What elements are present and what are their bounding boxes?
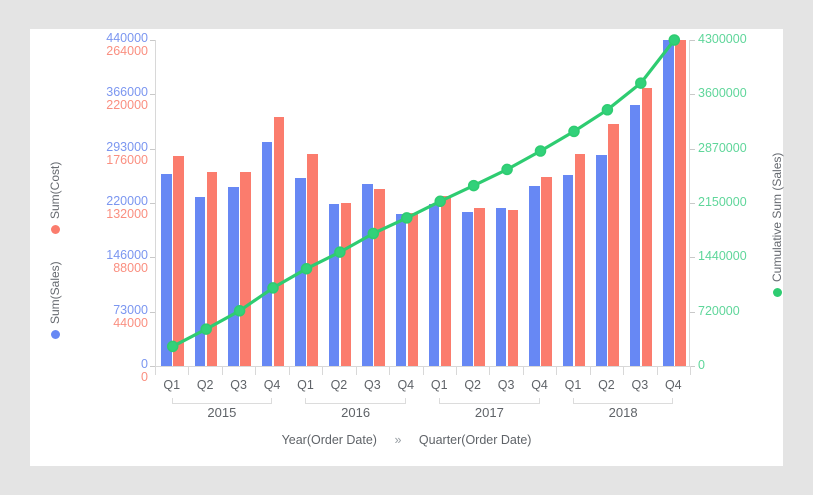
cost-tick-value: 264000 xyxy=(106,45,148,58)
left-axis-tick: 00 xyxy=(141,358,148,384)
cost-tick-value: 88000 xyxy=(106,262,148,275)
year-bracket xyxy=(439,398,539,404)
chart-card: Sum(Cost) Sum(Sales) Cumulative Sum (Sal… xyxy=(30,29,783,466)
left-axis-tick-labels: 0073000440001460008800022000013200029300… xyxy=(70,29,148,466)
sum-cost-axis-title-label: Sum(Cost) xyxy=(48,162,62,219)
left-axis-tickmark xyxy=(150,257,155,258)
cumulative-sum-point[interactable]: 2017 Q4 — 2836000 xyxy=(536,146,546,156)
left-axis-tickmark xyxy=(150,40,155,41)
quarter-label[interactable]: Q4 xyxy=(665,378,682,392)
year-bracket xyxy=(172,398,272,404)
year-bracket xyxy=(305,398,405,404)
sales-tick-value: 293000 xyxy=(106,141,148,154)
year-label[interactable]: 2018 xyxy=(609,405,638,420)
sales-legend-dot xyxy=(51,330,60,339)
year-label[interactable]: 2016 xyxy=(341,405,370,420)
category-tickmark xyxy=(289,366,290,375)
category-tickmark xyxy=(389,366,390,375)
right-axis-tick: 2150000 xyxy=(698,196,747,209)
category-tickmark xyxy=(155,366,156,375)
category-tickmark xyxy=(356,366,357,375)
cumulative-sum-point[interactable]: 2016 Q1 — 1284000 xyxy=(302,264,312,274)
category-tickmark xyxy=(657,366,658,375)
right-axis-tick: 3600000 xyxy=(698,87,747,100)
quarter-label[interactable]: Q4 xyxy=(531,378,548,392)
cumulative-sum-point[interactable]: 2017 Q2 — 2380000 xyxy=(469,181,479,191)
cumulative-sum-point[interactable]: 2018 Q1 — 3094000 xyxy=(569,126,579,136)
sum-cost-axis-title: Sum(Cost) xyxy=(48,162,62,234)
quarter-label[interactable]: Q3 xyxy=(364,378,381,392)
quarter-label[interactable]: Q2 xyxy=(197,378,214,392)
cumulative-sum-line xyxy=(173,40,675,346)
cost-tick-value: 44000 xyxy=(113,317,148,330)
year-label[interactable]: 2015 xyxy=(207,405,236,420)
cumulative-sum-point[interactable]: 2015 Q4 — 1030000 xyxy=(268,283,278,293)
quarter-label[interactable]: Q3 xyxy=(498,378,515,392)
bottom-axis-title-separator: » xyxy=(380,433,415,447)
cost-tick-value: 132000 xyxy=(106,208,148,221)
cumulative-sum-point[interactable]: 2017 Q1 — 2172000 xyxy=(435,196,445,206)
category-tickmark xyxy=(590,366,591,375)
cumulative-sum-point[interactable]: 2015 Q3 — 728000 xyxy=(235,306,245,316)
right-axis-tick: 2870000 xyxy=(698,142,747,155)
left-axis-tickmark xyxy=(150,203,155,204)
plot-inner: 2015 Q1 — 2590002015 Q2 — 4870002015 Q3 … xyxy=(156,40,689,366)
year-bracket xyxy=(573,398,673,404)
left-axis-tick: 7300044000 xyxy=(113,304,148,330)
right-axis-tick-labels: 0720000144000021500002870000360000043000… xyxy=(698,29,778,466)
right-axis-tick: 4300000 xyxy=(698,33,747,46)
cumulative-sum-point[interactable]: 2018 Q4 — 4300000 xyxy=(669,35,679,45)
cost-legend-dot xyxy=(51,225,60,234)
left-axis-tick: 220000132000 xyxy=(106,195,148,221)
left-axis-tickmark xyxy=(150,312,155,313)
quarter-label[interactable]: Q1 xyxy=(163,378,180,392)
quarter-label[interactable]: Q4 xyxy=(264,378,281,392)
category-tickmark xyxy=(255,366,256,375)
cumulative-sum-line-series: 2015 Q1 — 2590002015 Q2 — 4870002015 Q3 … xyxy=(156,40,691,366)
category-tickmark xyxy=(690,366,691,375)
right-axis-tick: 1440000 xyxy=(698,250,747,263)
category-axis: Q1Q2Q3Q4Q1Q2Q3Q4Q1Q2Q3Q4Q1Q2Q3Q420152016… xyxy=(155,366,690,436)
quarter-label[interactable]: Q1 xyxy=(565,378,582,392)
year-label[interactable]: 2017 xyxy=(475,405,504,420)
cost-tick-value: 0 xyxy=(141,371,148,384)
cumulative-sum-point[interactable]: 2016 Q4 — 1953000 xyxy=(402,213,412,223)
cumulative-sum-point[interactable]: 2015 Q1 — 259000 xyxy=(168,341,178,351)
quarter-label[interactable]: Q2 xyxy=(331,378,348,392)
quarter-label[interactable]: Q1 xyxy=(297,378,314,392)
category-tickmark xyxy=(523,366,524,375)
right-axis-tick: 0 xyxy=(698,359,705,372)
cost-tick-value: 176000 xyxy=(106,154,148,167)
bottom-axis-title: Year(Order Date) » Quarter(Order Date) xyxy=(30,433,783,447)
cumulative-sum-point[interactable]: 2016 Q2 — 1503000 xyxy=(335,247,345,257)
cumulative-sum-point[interactable]: 2018 Q3 — 3731000 xyxy=(636,78,646,88)
quarter-label[interactable]: Q2 xyxy=(598,378,615,392)
cost-tick-value: 220000 xyxy=(106,99,148,112)
quarter-label[interactable]: Q3 xyxy=(230,378,247,392)
cumulative-sum-point[interactable]: 2017 Q3 — 2593000 xyxy=(502,164,512,174)
sum-sales-axis-title-label: Sum(Sales) xyxy=(48,261,62,324)
left-axis-tickmark xyxy=(150,149,155,150)
left-axis-tick: 14600088000 xyxy=(106,249,148,275)
category-tickmark xyxy=(623,366,624,375)
category-tickmark xyxy=(456,366,457,375)
bottom-axis-title-part1: Year(Order Date) xyxy=(282,433,377,447)
quarter-label[interactable]: Q3 xyxy=(632,378,649,392)
category-tickmark xyxy=(423,366,424,375)
category-tickmark xyxy=(489,366,490,375)
cumulative-sum-point[interactable]: 2016 Q3 — 1748000 xyxy=(368,229,378,239)
left-axis-tick: 293000176000 xyxy=(106,141,148,167)
left-axis-tick: 440000264000 xyxy=(106,32,148,58)
category-tickmark xyxy=(322,366,323,375)
sales-tick-value: 73000 xyxy=(113,304,148,317)
quarter-label[interactable]: Q2 xyxy=(464,378,481,392)
quarter-label[interactable]: Q1 xyxy=(431,378,448,392)
left-axis-tick: 366000220000 xyxy=(106,86,148,112)
sum-sales-axis-title: Sum(Sales) xyxy=(48,261,62,339)
category-tickmark xyxy=(556,366,557,375)
right-axis-tick: 720000 xyxy=(698,305,740,318)
quarter-label[interactable]: Q4 xyxy=(397,378,414,392)
category-tickmark xyxy=(188,366,189,375)
cumulative-sum-point[interactable]: 2015 Q2 — 487000 xyxy=(201,324,211,334)
bottom-axis-title-part2: Quarter(Order Date) xyxy=(419,433,532,447)
left-axis-tickmark xyxy=(150,94,155,95)
plot-area: 2015 Q1 — 2590002015 Q2 — 4870002015 Q3 … xyxy=(155,40,690,366)
cumulative-sum-point[interactable]: 2018 Q2 — 3379000 xyxy=(602,105,612,115)
category-tickmark xyxy=(222,366,223,375)
